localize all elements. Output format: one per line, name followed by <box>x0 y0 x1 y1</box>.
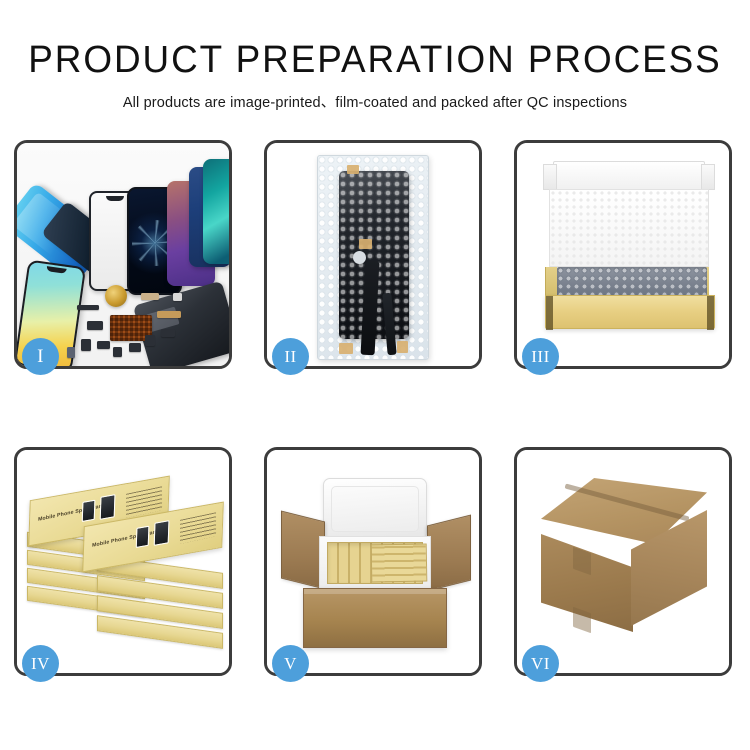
inner-box-photo <box>517 143 729 366</box>
small-part <box>141 293 159 300</box>
box-product-photo <box>82 500 96 522</box>
small-part <box>81 339 91 351</box>
small-part <box>67 347 75 358</box>
tape-mark <box>347 165 359 174</box>
step-badge-3: III <box>522 338 559 375</box>
step-panel-1: I <box>14 140 232 369</box>
tape-mark <box>397 341 408 353</box>
step-panel-4: Mobile Phone Spare Parts Mobile Phone Sp… <box>14 447 232 676</box>
step-badge-6: VI <box>522 645 559 682</box>
step-panel-3: III <box>514 140 732 369</box>
small-part <box>173 293 182 301</box>
small-part <box>97 341 110 349</box>
box-print-label: Mobile Phone Spare Parts <box>92 529 160 549</box>
step-badge-4: IV <box>22 645 59 682</box>
box-print-label: Mobile Phone Spare Parts <box>38 503 106 523</box>
connector-knob <box>353 251 366 264</box>
page-subtitle: All products are image-printed、film-coat… <box>0 91 750 112</box>
step-panel-6: VI <box>514 447 732 676</box>
sealed-carton-photo <box>517 450 729 673</box>
teal-gradient-phone <box>203 159 229 264</box>
foam-box-lid <box>323 478 427 540</box>
carton-flap-right <box>427 515 471 592</box>
box-product-photo <box>136 526 150 548</box>
small-part <box>77 305 99 310</box>
small-part <box>157 311 181 318</box>
step-badge-1: I <box>22 338 59 375</box>
small-part <box>129 343 141 352</box>
stacked-boxes-photo: Mobile Phone Spare Parts Mobile Phone Sp… <box>17 450 229 673</box>
step-panel-5: V <box>264 447 482 676</box>
foam-carton-photo <box>267 450 479 673</box>
carton-body <box>303 588 447 648</box>
tape-mark <box>339 343 353 354</box>
gold-coil-component <box>105 285 127 307</box>
kraft-boxes-inside-secondary <box>371 544 428 583</box>
step-badge-2: II <box>272 338 309 375</box>
small-part <box>145 335 155 346</box>
small-part <box>161 329 175 337</box>
tape-mark <box>359 239 372 249</box>
header: PRODUCT PREPARATION PROCESS All products… <box>0 0 750 112</box>
page-title: PRODUCT PREPARATION PROCESS <box>11 38 739 82</box>
process-steps-grid: I II <box>14 140 736 676</box>
foam-liner <box>549 189 709 267</box>
bubble-wrap-photo <box>267 143 479 366</box>
box-spec-text-block <box>180 512 216 544</box>
box-product-photo <box>154 520 170 546</box>
box-stack: Mobile Phone Spare Parts Mobile Phone Sp… <box>21 468 229 668</box>
small-part <box>87 321 103 330</box>
phone-parts-photo <box>17 143 229 366</box>
small-part <box>113 347 122 357</box>
product-preparation-infographic: PRODUCT PREPARATION PROCESS All products… <box>0 0 750 750</box>
box-lid <box>553 161 705 191</box>
box-product-photo <box>100 494 116 520</box>
step-panel-2: II <box>264 140 482 369</box>
kraft-box-front <box>545 295 715 329</box>
step-badge-5: V <box>272 645 309 682</box>
